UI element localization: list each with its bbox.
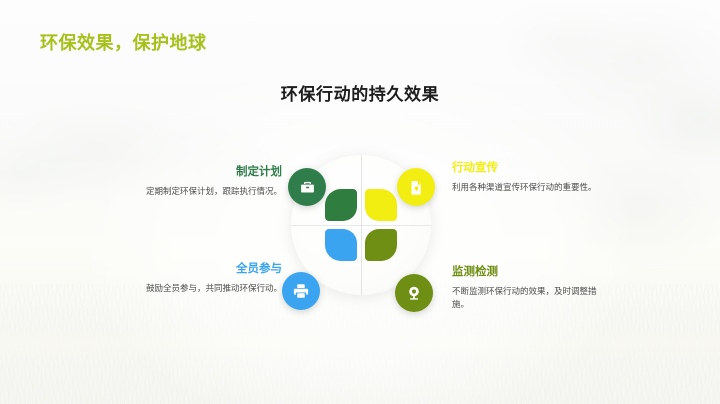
quadrant-bottom-left (325, 229, 357, 261)
node-monitor[interactable] (395, 274, 433, 312)
block-promote-desc: 利用各种渠道宣传环保行动的重要性。 (452, 181, 602, 194)
block-plan: 制定计划 定期制定环保计划，跟踪执行情况。 (132, 166, 282, 198)
diagram-center-flower (325, 189, 397, 261)
printer-icon (292, 282, 310, 300)
block-join-desc: 鼓励全员参与，共同推动环保行动。 (132, 282, 282, 295)
document-icon (408, 179, 425, 196)
block-plan-desc: 定期制定环保计划，跟踪执行情况。 (132, 185, 282, 198)
page-title: 环保行动的持久效果 (0, 80, 720, 105)
block-join: 全员参与 鼓励全员参与，共同推动环保行动。 (132, 263, 282, 295)
block-plan-title: 制定计划 (132, 166, 282, 180)
quadrant-top-left (325, 189, 357, 221)
camera-icon (405, 284, 423, 302)
quadrant-bottom-right (365, 229, 397, 261)
block-promote-title: 行动宣传 (452, 162, 602, 176)
block-monitor-title: 监测检测 (452, 266, 602, 280)
slide-kicker: 环保效果，保护地球 (40, 29, 207, 55)
circular-diagram (285, 146, 437, 336)
quadrant-top-right (365, 189, 397, 221)
node-plan[interactable] (288, 168, 326, 206)
block-promote: 行动宣传 利用各种渠道宣传环保行动的重要性。 (452, 162, 602, 194)
node-join[interactable] (282, 272, 320, 310)
block-join-title: 全员参与 (132, 263, 282, 277)
node-promote[interactable] (397, 168, 435, 206)
toolbox-icon (299, 179, 316, 196)
slide-canvas: 环保效果，保护地球 环保行动的持久效果 (0, 0, 720, 404)
block-monitor: 监测检测 不断监测环保行动的效果，及时调整措施。 (452, 266, 602, 311)
block-monitor-desc: 不断监测环保行动的效果，及时调整措施。 (452, 285, 602, 311)
